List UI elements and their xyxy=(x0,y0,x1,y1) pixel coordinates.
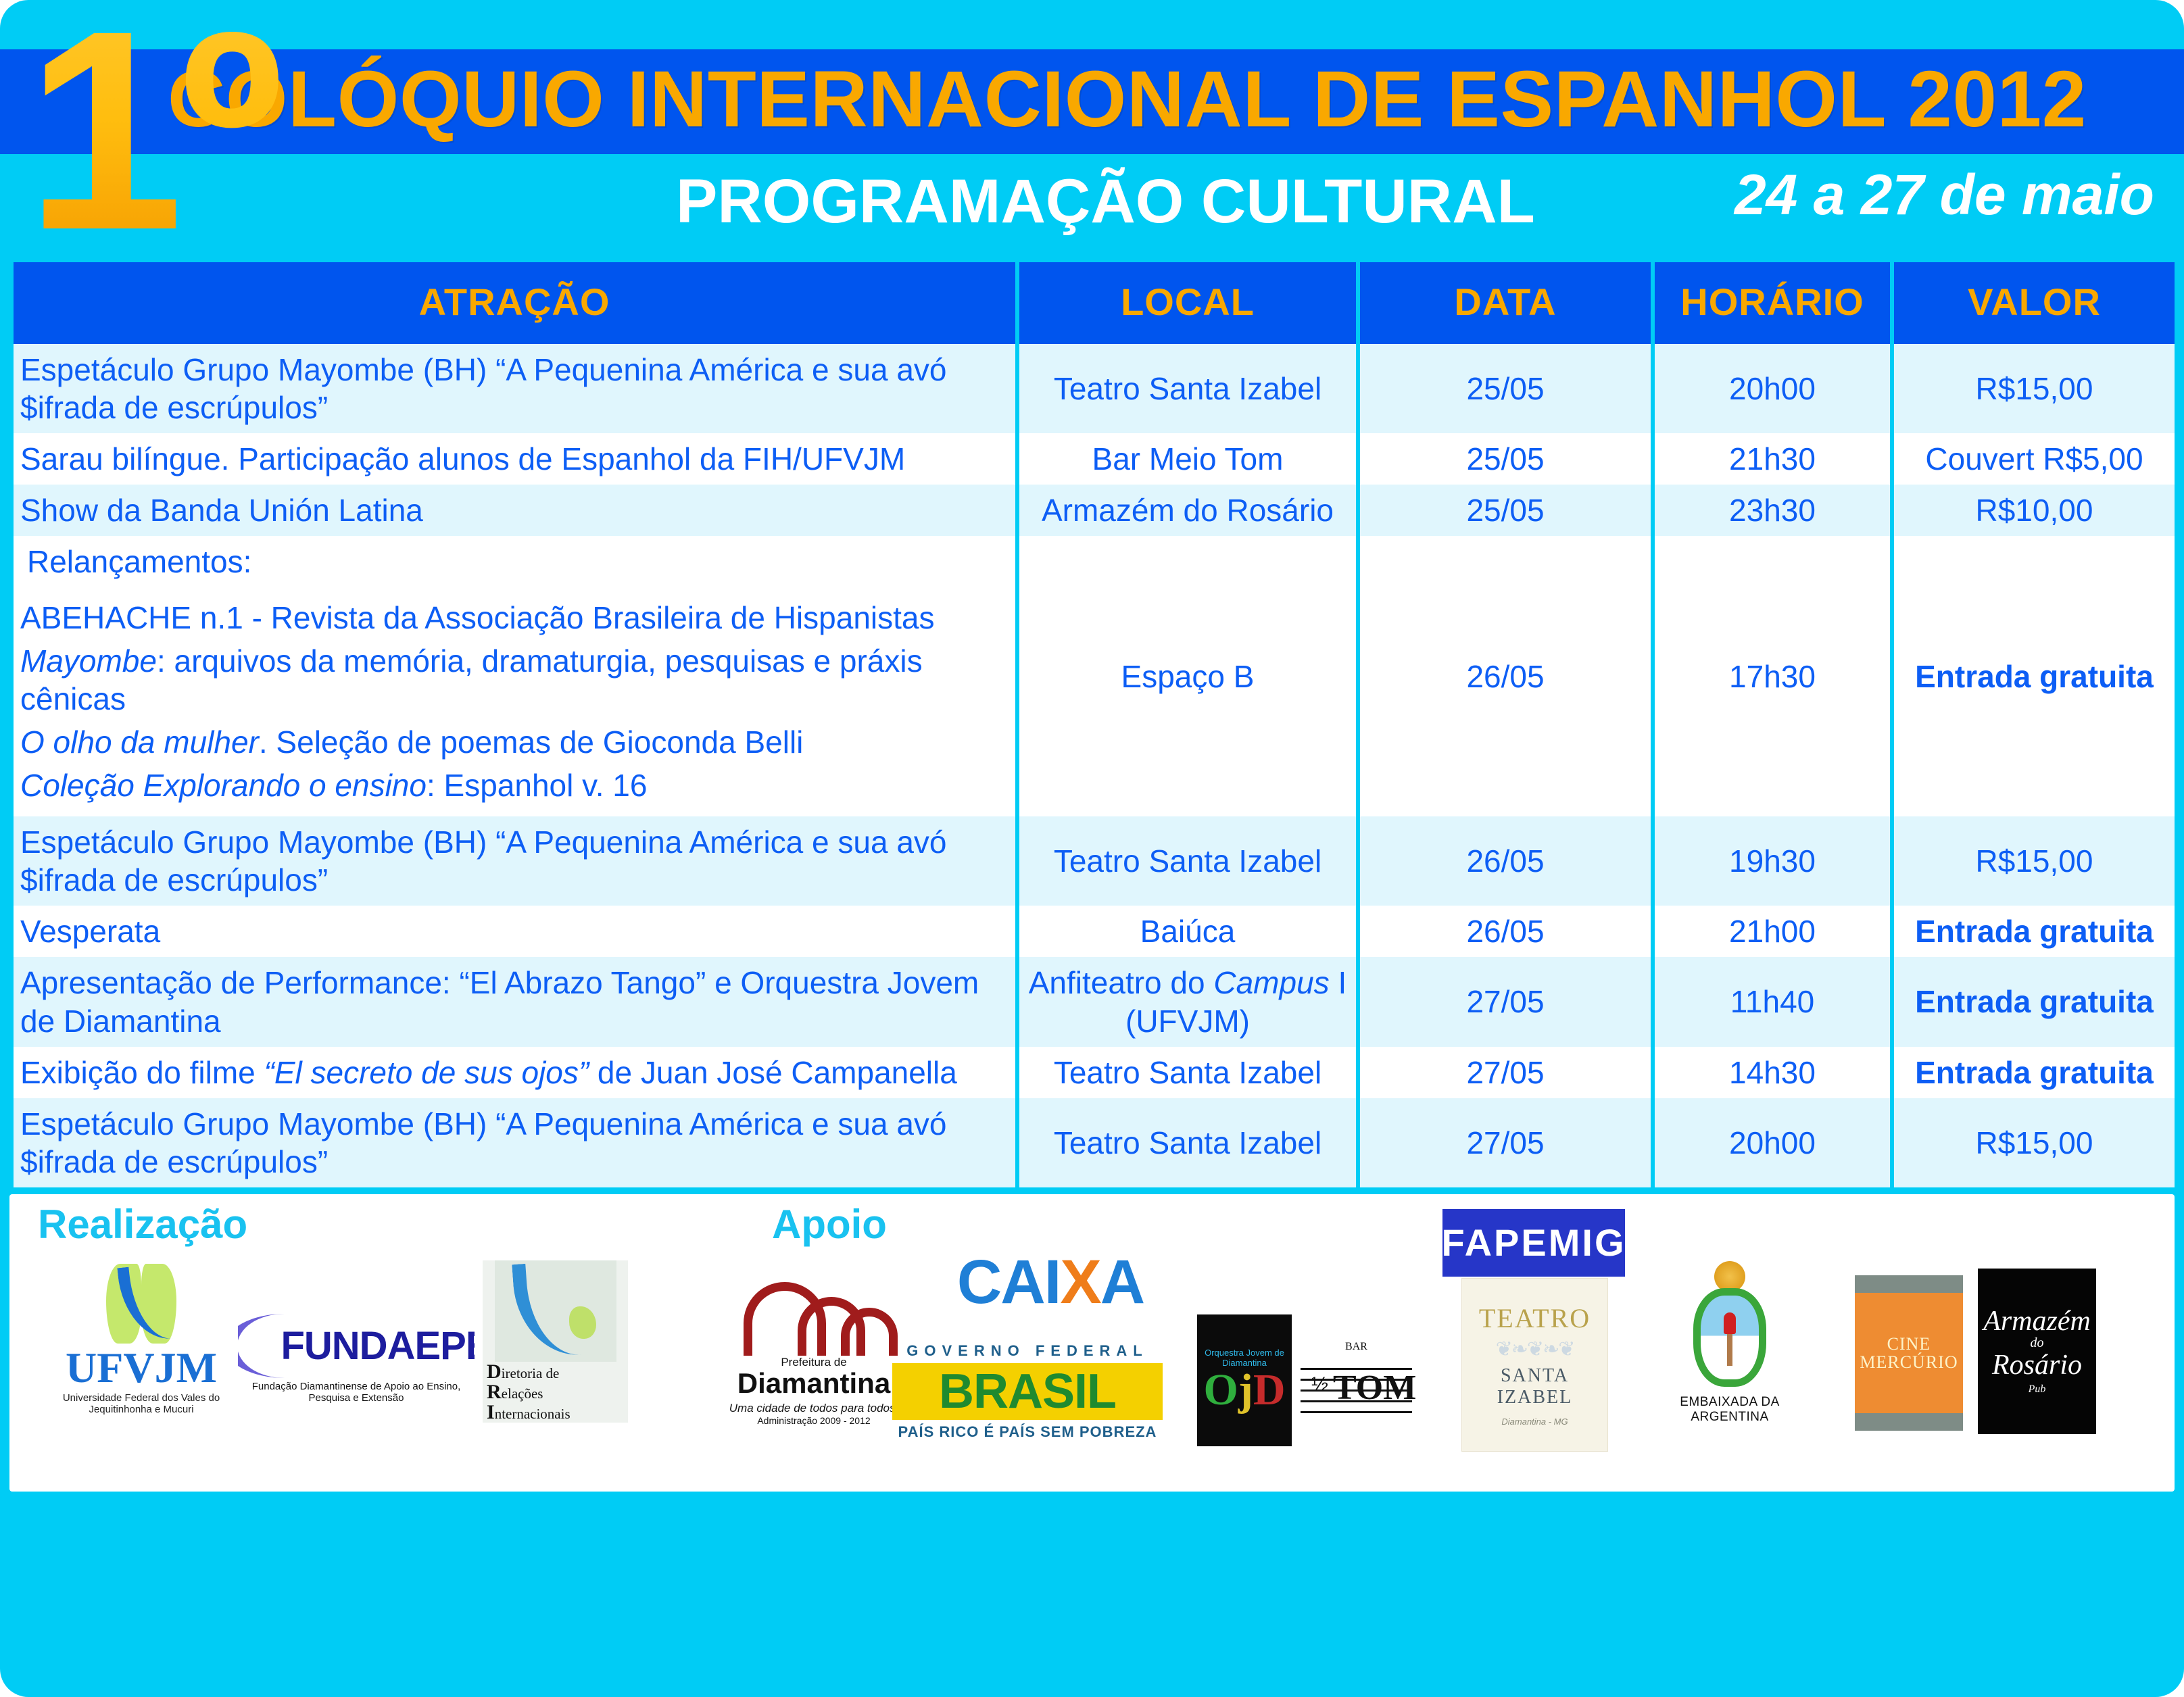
cell-atracao: Exibição do filme “El secreto de sus ojo… xyxy=(14,1047,1015,1098)
diamantina-tagline: Uma cidade de todos para todos! xyxy=(729,1402,898,1415)
relancamento-item: Coleção Explorando o ensino: Espanhol v.… xyxy=(20,766,1009,804)
arches-icon xyxy=(739,1285,888,1356)
cell-data: 26/05 xyxy=(1360,906,1651,957)
relancamento-title-italic: O olho da mulher xyxy=(20,724,259,760)
dri-line-2: elações xyxy=(502,1385,543,1402)
dri-text: Diretoria de Relações Internacionais xyxy=(483,1362,628,1423)
cell-valor: R$15,00 xyxy=(1894,816,2175,906)
cell-valor: Entrada gratuita xyxy=(1894,906,2175,957)
ojd-logo: Orquestra Jovem de Diamantina OjD xyxy=(1197,1314,1292,1446)
table-row: Relançamentos: ABEHACHE n.1 - Revista da… xyxy=(14,536,2175,816)
cell-atracao: Espetáculo Grupo Mayombe (BH) “A Pequeni… xyxy=(14,344,1015,433)
fundaepe-caption: Fundação Diamantinense de Apoio ao Ensin… xyxy=(238,1381,475,1404)
cell-valor: Entrada gratuita xyxy=(1894,536,2175,816)
col-header-horario: HORÁRIO xyxy=(1655,262,1890,344)
local-italic: Campus xyxy=(1213,965,1329,1000)
ojd-d: D xyxy=(1253,1365,1286,1415)
cell-valor: Entrada gratuita xyxy=(1894,1047,2175,1098)
cell-valor: Entrada gratuita xyxy=(1894,957,2175,1046)
fundaepe-wordmark: FUNDAEPE xyxy=(281,1327,475,1366)
teatro-line-1: TEATRO xyxy=(1479,1302,1591,1334)
caixa-part-b: A xyxy=(1100,1248,1144,1317)
table-header-row: ATRAÇÃO LOCAL DATA HORÁRIO VALOR xyxy=(14,262,2175,344)
atracao-post: de Juan José Campanella xyxy=(589,1055,957,1090)
diamantina-admin: Administração 2009 - 2012 xyxy=(757,1415,870,1426)
cell-atracao: Show da Banda Unión Latina xyxy=(14,485,1015,536)
cell-local: Bar Meio Tom xyxy=(1019,433,1356,485)
table-row: Sarau bilíngue. Participação alunos de E… xyxy=(14,433,2175,485)
cell-atracao: Vesperata xyxy=(14,906,1015,957)
brasil-tagline: PAÍS RICO É PAÍS SEM POBREZA xyxy=(898,1423,1157,1441)
cell-local: Teatro Santa Izabel xyxy=(1019,1047,1356,1098)
table-row: Espetáculo Grupo Mayombe (BH) “A Pequeni… xyxy=(14,816,2175,906)
ufvjm-wordmark: UFVJM xyxy=(66,1346,217,1389)
table-row: Espetáculo Grupo Mayombe (BH) “A Pequeni… xyxy=(14,344,2175,433)
caixa-part-x: X xyxy=(1060,1248,1100,1317)
cell-local: Teatro Santa Izabel xyxy=(1019,344,1356,433)
half-note-label: ½ xyxy=(1311,1373,1328,1396)
armazem-rosario-logo: Armazém do Rosário Pub xyxy=(1978,1269,2096,1434)
caixa-wordmark: CAIXA xyxy=(957,1251,1144,1313)
cine-bottom-bar xyxy=(1855,1413,1963,1431)
cell-horario: 11h40 xyxy=(1655,957,1890,1046)
table-row: Espetáculo Grupo Mayombe (BH) “A Pequeni… xyxy=(14,1098,2175,1187)
armazem-do: do xyxy=(2031,1335,2044,1351)
cell-data: 27/05 xyxy=(1360,1098,1651,1187)
ornament-icon: ❦❧❦❧❦ xyxy=(1496,1339,1574,1360)
globe-icon xyxy=(495,1260,616,1362)
diamantina-wordmark: Diamantina xyxy=(737,1369,890,1398)
cine-line-2: MERCÚRIO xyxy=(1860,1353,1958,1371)
music-staff-icon: ½ TOM xyxy=(1301,1353,1412,1427)
armazem-line-1: Armazém xyxy=(1983,1307,2091,1335)
caixa-logo: CAIXA xyxy=(936,1241,1165,1323)
armazem-line-2: Rosário xyxy=(1992,1351,2082,1379)
fundaepe-arc-icon xyxy=(238,1314,285,1378)
brasil-logo: GOVERNO FEDERAL BRASIL PAÍS RICO É PAÍS … xyxy=(885,1331,1169,1452)
cell-horario: 14h30 xyxy=(1655,1047,1890,1098)
poster-footer: Realização Apoio UFVJM Universidade Fede… xyxy=(9,1194,2175,1492)
brasil-gov-label: GOVERNO FEDERAL xyxy=(906,1342,1148,1360)
cell-data: 25/05 xyxy=(1360,433,1651,485)
teatro-line-3: Diamantina - MG xyxy=(1501,1417,1568,1427)
bar-meio-tom-logo: BAR ½ TOM xyxy=(1297,1327,1415,1442)
argentina-shield-icon xyxy=(1693,1288,1766,1387)
cine-top-bar xyxy=(1855,1275,1963,1293)
atracao-pre: Exibição do filme xyxy=(20,1055,264,1090)
dri-logo: Diretoria de Relações Internacionais xyxy=(483,1260,628,1423)
realizacao-label: Realização xyxy=(38,1201,247,1248)
event-dates: 24 a 27 de maio xyxy=(1734,166,2154,223)
page-subtitle: PROGRAMAÇÃO CULTURAL xyxy=(676,170,1535,232)
ufvjm-logo: UFVJM Universidade Federal dos Vales do … xyxy=(50,1255,233,1424)
program-table: ATRAÇÃO LOCAL DATA HORÁRIO VALOR Espetác… xyxy=(9,262,2179,1187)
dri-line-1: iretoria de xyxy=(502,1365,560,1381)
cell-horario: 19h30 xyxy=(1655,816,1890,906)
dri-line-3: nternacionais xyxy=(495,1406,571,1422)
cine-line-1: CINE xyxy=(1860,1335,1958,1353)
embaixada-argentina-logo: EMBAIXADA DA ARGENTINA xyxy=(1652,1255,1807,1431)
ufvjm-mark-icon xyxy=(101,1264,182,1345)
cell-local: Armazém do Rosário xyxy=(1019,485,1356,536)
relancamento-item: Mayombe: arquivos da memória, dramaturgi… xyxy=(20,642,1009,718)
cell-local: Baiúca xyxy=(1019,906,1356,957)
cell-data: 27/05 xyxy=(1360,1047,1651,1098)
cell-horario: 23h30 xyxy=(1655,485,1890,536)
ordinal-number: 1º xyxy=(26,0,279,273)
page-title: COLÓQUIO INTERNACIONAL DE ESPANHOL 2012 xyxy=(168,59,2087,139)
bar-wordmark: TOM xyxy=(1333,1371,1415,1406)
relancamento-title-italic: Coleção Explorando o ensino xyxy=(20,768,427,803)
table-row: Exibição do filme “El secreto de sus ojo… xyxy=(14,1047,2175,1098)
cell-atracao: Apresentação de Performance: “El Abrazo … xyxy=(14,957,1015,1046)
cell-atracao: Sarau bilíngue. Participação alunos de E… xyxy=(14,433,1015,485)
poster-root: 1º COLÓQUIO INTERNACIONAL DE ESPANHOL 20… xyxy=(0,0,2184,1697)
table-row: Show da Banda Unión Latina Armazém do Ro… xyxy=(14,485,2175,536)
bar-label: BAR xyxy=(1345,1341,1367,1353)
col-header-data: DATA xyxy=(1360,262,1651,344)
fapemig-wordmark: FAPEMIG xyxy=(1442,1224,1625,1262)
col-header-local: LOCAL xyxy=(1019,262,1356,344)
local-pre: Anfiteatro do xyxy=(1029,965,1214,1000)
relancamentos-title: Relançamentos: xyxy=(20,543,1009,581)
fundaepe-logo: FUNDAEPE Fundação Diamantinense de Apoio… xyxy=(238,1305,475,1413)
ojd-wordmark: OjD xyxy=(1204,1368,1286,1412)
relancamento-item: ABEHACHE n.1 - Revista da Associação Bra… xyxy=(20,599,1009,637)
brasil-wordmark: BRASIL xyxy=(939,1367,1116,1416)
cine-center: CINE MERCÚRIO xyxy=(1855,1293,1963,1413)
cine-text: CINE MERCÚRIO xyxy=(1860,1335,1958,1372)
dri-cap-d: D xyxy=(487,1360,502,1383)
ojd-j: j xyxy=(1238,1365,1253,1415)
caixa-part-a: CAI xyxy=(957,1248,1060,1317)
cell-local: Espaço B xyxy=(1019,536,1356,816)
cine-mercurio-logo: CINE MERCÚRIO xyxy=(1855,1275,1963,1431)
table-row: Apresentação de Performance: “El Abrazo … xyxy=(14,957,2175,1046)
cell-horario: 20h00 xyxy=(1655,1098,1890,1187)
teatro-line-2: SANTA IZABEL xyxy=(1462,1365,1607,1408)
cell-valor: Couvert R$5,00 xyxy=(1894,433,2175,485)
teatro-santa-izabel-logo: TEATRO ❦❧❦❧❦ SANTA IZABEL Diamantina - M… xyxy=(1461,1278,1608,1452)
argentina-caption: EMBAIXADA DA ARGENTINA xyxy=(1652,1395,1807,1425)
cell-valor: R$15,00 xyxy=(1894,344,2175,433)
cell-data: 25/05 xyxy=(1360,344,1651,433)
cell-horario: 20h00 xyxy=(1655,344,1890,433)
ojd-o: O xyxy=(1204,1365,1238,1415)
atracao-italic: “El secreto de sus ojos” xyxy=(264,1055,589,1090)
dri-cap-i: I xyxy=(487,1401,495,1423)
cell-data: 26/05 xyxy=(1360,816,1651,906)
cell-data: 26/05 xyxy=(1360,536,1651,816)
cell-horario: 21h00 xyxy=(1655,906,1890,957)
cell-atracao-relancamentos: Relançamentos: ABEHACHE n.1 - Revista da… xyxy=(14,536,1015,816)
cell-local: Anfiteatro do Campus I (UFVJM) xyxy=(1019,957,1356,1046)
col-header-valor: VALOR xyxy=(1894,262,2175,344)
logo-strip: UFVJM Universidade Federal dos Vales do … xyxy=(9,1246,2175,1492)
cell-local: Teatro Santa Izabel xyxy=(1019,1098,1356,1187)
relancamento-title-italic: Mayombe xyxy=(20,643,157,679)
fapemig-logo: FAPEMIG xyxy=(1442,1209,1625,1277)
cell-valor: R$15,00 xyxy=(1894,1098,2175,1187)
cell-valor: R$10,00 xyxy=(1894,485,2175,536)
diamantina-logo: Prefeitura de Diamantina Uma cidade de t… xyxy=(726,1278,902,1433)
relancamento-item: O olho da mulher. Seleção de poemas de G… xyxy=(20,723,1009,761)
program-table-wrap: ATRAÇÃO LOCAL DATA HORÁRIO VALOR Espetác… xyxy=(9,262,2175,1187)
cell-data: 25/05 xyxy=(1360,485,1651,536)
cell-local: Teatro Santa Izabel xyxy=(1019,816,1356,906)
ufvjm-caption: Universidade Federal dos Vales do Jequit… xyxy=(50,1392,233,1415)
armazem-line-3: Pub xyxy=(2029,1383,2046,1396)
cell-atracao: Espetáculo Grupo Mayombe (BH) “A Pequeni… xyxy=(14,816,1015,906)
cell-atracao: Espetáculo Grupo Mayombe (BH) “A Pequeni… xyxy=(14,1098,1015,1187)
brasil-band: BRASIL xyxy=(892,1363,1163,1420)
cell-horario: 17h30 xyxy=(1655,536,1890,816)
dri-cap-r: R xyxy=(487,1381,502,1403)
table-row: Vesperata Baiúca 26/05 21h00 Entrada gra… xyxy=(14,906,2175,957)
poster-header: 1º COLÓQUIO INTERNACIONAL DE ESPANHOL 20… xyxy=(0,0,2184,262)
apoio-label: Apoio xyxy=(772,1201,887,1248)
cell-data: 27/05 xyxy=(1360,957,1651,1046)
cell-horario: 21h30 xyxy=(1655,433,1890,485)
